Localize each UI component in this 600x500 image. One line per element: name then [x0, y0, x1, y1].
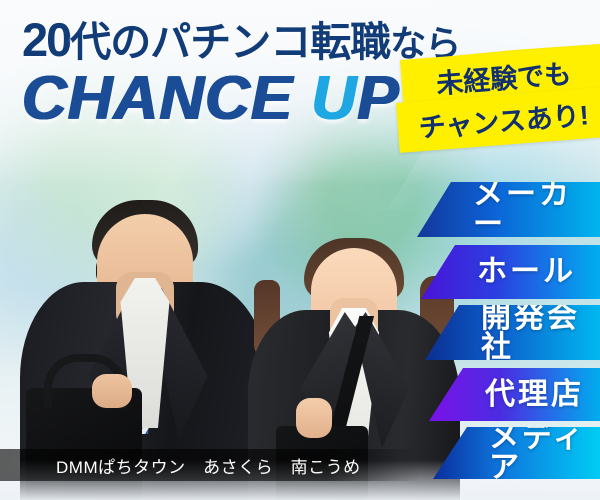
category-bar-2[interactable]: ホール: [421, 245, 600, 299]
credit-caption-bar: DMMぱちタウン あさくら 南こうめ: [0, 449, 420, 481]
category-bar-5[interactable]: メディア: [433, 427, 600, 479]
credit-caption-text: DMMぱちタウン あさくら 南こうめ: [56, 453, 361, 478]
category-bar-4[interactable]: 代理店: [429, 368, 600, 421]
category-bar-label: ホール: [477, 257, 576, 287]
category-bar-label: 代理店: [485, 380, 584, 410]
category-bar-label: 開発会社: [481, 303, 600, 363]
category-bar-label: メディア: [489, 423, 600, 483]
category-bar-list: メーカーホール開発会社代理店メディア: [0, 0, 600, 500]
category-bar-1[interactable]: メーカー: [417, 182, 600, 237]
category-bar-3[interactable]: 開発会社: [425, 305, 600, 360]
category-bar-label: メーカー: [473, 180, 600, 240]
pachinko-job-ad-banner[interactable]: 20代のパチンコ転職なら CHANCE UP 未経験でも チャンスあり! メーカ…: [0, 0, 600, 500]
